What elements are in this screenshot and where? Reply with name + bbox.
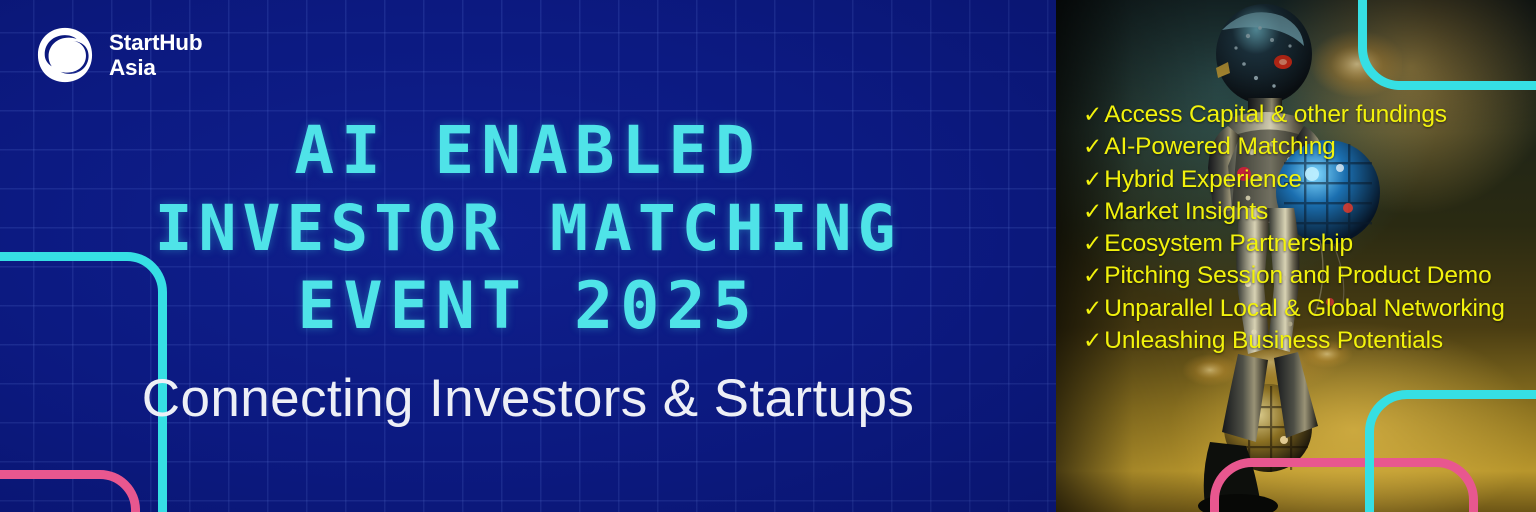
brand-logo: StartHub Asia	[34, 26, 202, 84]
benefit-label: Market Insights	[1104, 200, 1268, 225]
brand-wordmark: StartHub Asia	[109, 30, 202, 81]
check-icon: ✓	[1083, 329, 1102, 352]
check-icon: ✓	[1083, 200, 1102, 223]
list-item: ✓ Access Capital & other fundings	[1083, 103, 1535, 135]
list-item: ✓ Unparallel Local & Global Networking	[1083, 297, 1535, 329]
left-content-panel: StartHub Asia AI ENABLED INVESTOR MATCHI…	[0, 0, 1056, 512]
pink-bracket-bottom-left-icon	[0, 470, 140, 512]
list-item: ✓ AI-Powered Matching	[1083, 135, 1535, 167]
page-title: AI ENABLED INVESTOR MATCHING EVENT 2025	[0, 112, 1056, 346]
cyan-bracket-top-right-icon	[1358, 0, 1536, 90]
title-line-2: INVESTOR MATCHING	[0, 190, 1056, 268]
event-banner: StartHub Asia AI ENABLED INVESTOR MATCHI…	[0, 0, 1536, 512]
benefit-label: Access Capital & other fundings	[1104, 103, 1447, 128]
benefit-label: AI-Powered Matching	[1104, 135, 1335, 160]
list-item: ✓ Pitching Session and Product Demo	[1083, 264, 1535, 296]
benefit-label: Hybrid Experience	[1104, 168, 1302, 193]
benefit-label: Ecosystem Partnership	[1104, 232, 1353, 257]
starthub-spiral-logo-icon	[34, 26, 96, 84]
check-icon: ✓	[1083, 232, 1102, 255]
check-icon: ✓	[1083, 135, 1102, 158]
check-icon: ✓	[1083, 264, 1102, 287]
title-line-3: EVENT 2025	[0, 268, 1056, 346]
brand-name-line1: StartHub	[109, 30, 202, 55]
benefit-label: Unleashing Business Potentials	[1104, 329, 1443, 354]
list-item: ✓ Hybrid Experience	[1083, 168, 1535, 200]
check-icon: ✓	[1083, 297, 1102, 320]
check-icon: ✓	[1083, 103, 1102, 126]
benefits-list: ✓ Access Capital & other fundings ✓ AI-P…	[1083, 103, 1535, 361]
list-item: ✓ Market Insights	[1083, 200, 1535, 232]
page-subtitle: Connecting Investors & Startups	[0, 368, 1056, 429]
benefit-label: Pitching Session and Product Demo	[1104, 264, 1491, 289]
brand-name-line2: Asia	[109, 55, 202, 80]
benefit-label: Unparallel Local & Global Networking	[1104, 297, 1504, 322]
list-item: ✓ Ecosystem Partnership	[1083, 232, 1535, 264]
check-icon: ✓	[1083, 168, 1102, 191]
title-line-1: AI ENABLED	[0, 112, 1056, 190]
cyan-bracket-bottom-right-icon	[1365, 390, 1536, 512]
list-item: ✓ Unleashing Business Potentials	[1083, 329, 1535, 361]
